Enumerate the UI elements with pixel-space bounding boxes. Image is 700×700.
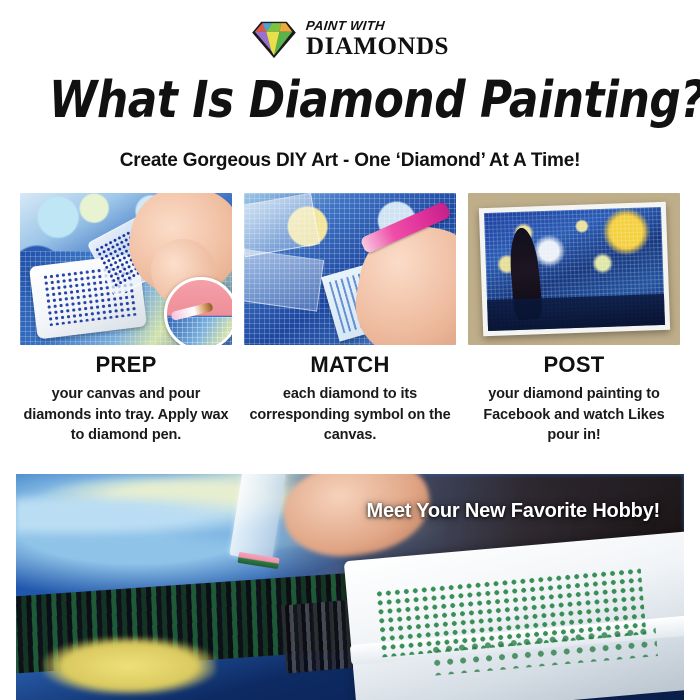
photo-post-starry-night-art bbox=[484, 207, 665, 331]
step-photo-row bbox=[0, 193, 700, 345]
photo-prep-inset-canvas bbox=[167, 317, 232, 345]
photo-match bbox=[244, 193, 456, 345]
photo-match-diamond-bag-bottom bbox=[244, 248, 324, 311]
brand-line-diamonds: DIAMONDS bbox=[306, 34, 449, 59]
step-prep: PREP your canvas and pour diamonds into … bbox=[18, 352, 234, 446]
step-prep-body: your canvas and pour diamonds into tray.… bbox=[18, 384, 234, 446]
step-match-body: each diamond to its corresponding symbol… bbox=[242, 384, 458, 446]
banner-yellow-star-blur bbox=[43, 637, 217, 696]
banner-headline: Meet Your New Favorite Hobby! bbox=[366, 500, 660, 523]
brand-line-paint-with: PAINT WITH bbox=[305, 19, 449, 32]
step-prep-title: PREP bbox=[18, 352, 234, 378]
brand-wordmark: PAINT WITH DIAMONDS bbox=[306, 19, 449, 59]
photo-prep-wax-inset bbox=[164, 277, 232, 345]
page-subtitle: Create Gorgeous DIY Art - One ‘Diamond’ … bbox=[0, 150, 700, 172]
step-match: MATCH each diamond to its corresponding … bbox=[242, 352, 458, 446]
diamond-gem-icon bbox=[251, 19, 297, 59]
photo-post bbox=[468, 193, 680, 345]
photo-prep bbox=[20, 193, 232, 345]
step-post-body: your diamond painting to Facebook and wa… bbox=[466, 384, 682, 446]
hobby-banner: Meet Your New Favorite Hobby! bbox=[16, 474, 684, 700]
step-text-row: PREP your canvas and pour diamonds into … bbox=[0, 352, 700, 462]
step-post-title: POST bbox=[466, 352, 682, 378]
step-match-title: MATCH bbox=[242, 352, 458, 378]
brand-logo[interactable]: PAINT WITH DIAMONDS bbox=[0, 10, 700, 68]
page-title: What Is Diamond Painting? bbox=[49, 74, 651, 128]
infographic-page: PAINT WITH DIAMONDS What Is Diamond Pain… bbox=[0, 0, 700, 700]
photo-post-canvas-frame bbox=[479, 202, 670, 336]
photo-post-village-hills bbox=[487, 294, 665, 331]
step-post: POST your diamond painting to Facebook a… bbox=[466, 352, 682, 446]
